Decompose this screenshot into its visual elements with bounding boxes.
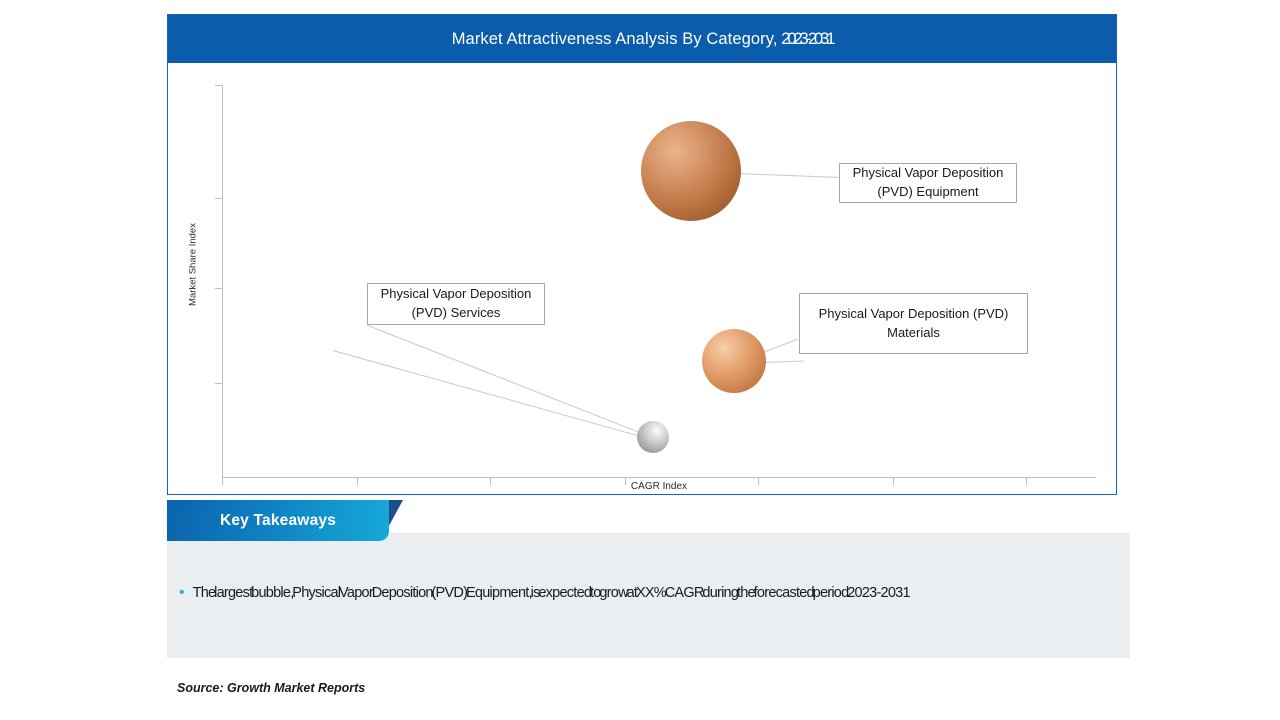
key-takeaways-banner: Key Takeaways: [167, 500, 402, 541]
callout-label-services: Physical Vapor Deposition (PVD) Services: [376, 285, 536, 323]
callout-pvd-services[interactable]: Physical Vapor Deposition (PVD) Services: [367, 283, 545, 325]
key-takeaways-text: The largest bubble, Physical Vapor Depos…: [193, 585, 910, 601]
key-takeaways-panel: • The largest bubble, Physical Vapor Dep…: [167, 533, 1130, 658]
y-axis-tick: [215, 198, 223, 199]
callout-label-materials: Physical Vapor Deposition (PVD) Material…: [808, 305, 1019, 343]
y-axis-line: [222, 85, 223, 477]
chart-title-main: Market Attractiveness Analysis By Catego…: [452, 30, 783, 48]
slide-root: Market Attractiveness Analysis By Catego…: [0, 0, 1280, 720]
key-takeaways-banner-label: Key Takeaways: [220, 512, 336, 530]
x-axis-line: [222, 477, 1096, 478]
bubble-pvd-equipment[interactable]: [641, 121, 741, 221]
source-note: Source: Growth Market Reports: [177, 681, 365, 695]
y-axis-label: Market Share Index: [188, 195, 199, 335]
key-takeaways-bullet: • The largest bubble, Physical Vapor Dep…: [179, 585, 910, 601]
callout-pvd-materials[interactable]: Physical Vapor Deposition (PVD) Material…: [799, 293, 1028, 354]
y-axis-tick: [215, 85, 223, 86]
chart-title-bar: Market Attractiveness Analysis By Catego…: [168, 15, 1116, 63]
y-axis-tick: [215, 383, 223, 384]
callout-pvd-equipment[interactable]: Physical Vapor Deposition (PVD) Equipmen…: [839, 163, 1017, 203]
callout-label-equipment: Physical Vapor Deposition (PVD) Equipmen…: [848, 164, 1008, 202]
chart-title-period: 2023-2031: [781, 30, 832, 48]
bullet-dot-icon: •: [179, 585, 185, 600]
key-takeaways-banner-body: Key Takeaways: [167, 500, 389, 541]
bubble-pvd-materials[interactable]: [702, 329, 766, 393]
x-axis-label: CAGR Index: [222, 481, 1096, 492]
y-axis-tick: [215, 288, 223, 289]
bubble-pvd-services[interactable]: [637, 421, 669, 453]
page-title: Market Attractiveness Analysis By Catego…: [452, 30, 833, 49]
chart-container: Market Attractiveness Analysis By Catego…: [167, 14, 1117, 495]
plot-area: Market Share Index CAGR Index Physical V…: [168, 63, 1116, 496]
leader-line-services: [368, 325, 641, 433]
leader-line-services: [333, 350, 644, 438]
